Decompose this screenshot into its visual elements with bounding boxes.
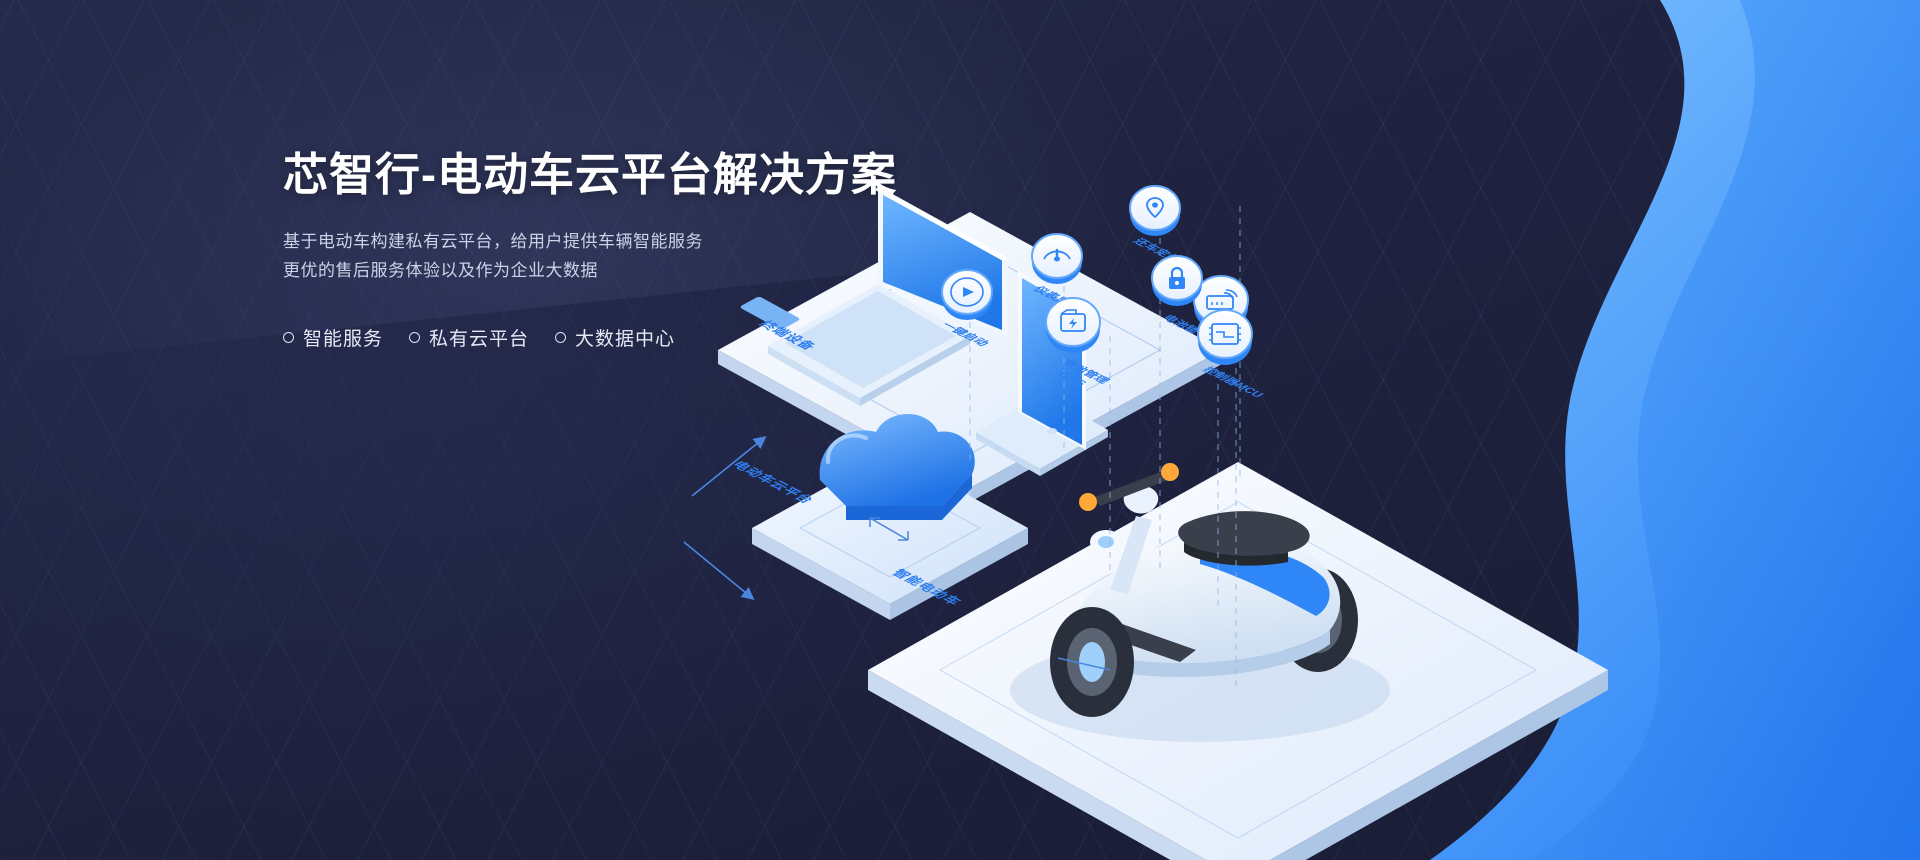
feature-tag-smart-service: 智能服务 [283, 324, 383, 351]
feature-tag-label: 智能服务 [303, 324, 383, 351]
subtitle-line-2: 更优的售后服务体验以及作为企业大数据 [283, 261, 598, 280]
illustration-svg [640, 150, 1920, 860]
front-wheel [1050, 607, 1134, 717]
badge-return-locating[interactable] [1124, 178, 1186, 240]
badge-one-key-start[interactable] [936, 262, 998, 324]
circle-bullet-icon [555, 332, 566, 343]
circle-bullet-icon [283, 332, 294, 343]
badge-dashboard-display[interactable] [1026, 226, 1088, 288]
feature-tag-private-cloud: 私有云平台 [409, 324, 529, 351]
hero-banner: 芯智行-电动车云平台解决方案 基于电动车构建私有云平台，给用户提供车辆智能服务 … [0, 0, 1920, 860]
badge-battery-lock[interactable] [1146, 248, 1208, 310]
battery-folder-icon [1040, 290, 1106, 356]
chip-board-icon [1192, 302, 1258, 368]
isometric-illustration: 终端设备 电动车云平台 智能电动车 一键启动 仪表显示 [640, 150, 1920, 860]
badge-controller-mcu[interactable] [1192, 302, 1258, 368]
badge-battery-management[interactable] [1040, 290, 1106, 356]
power-button-icon [936, 262, 998, 324]
circle-bullet-icon [409, 332, 420, 343]
feature-tag-label: 私有云平台 [429, 324, 529, 351]
location-pin-icon [1124, 178, 1186, 240]
lock-icon [1146, 248, 1208, 310]
gauge-icon [1026, 226, 1088, 288]
